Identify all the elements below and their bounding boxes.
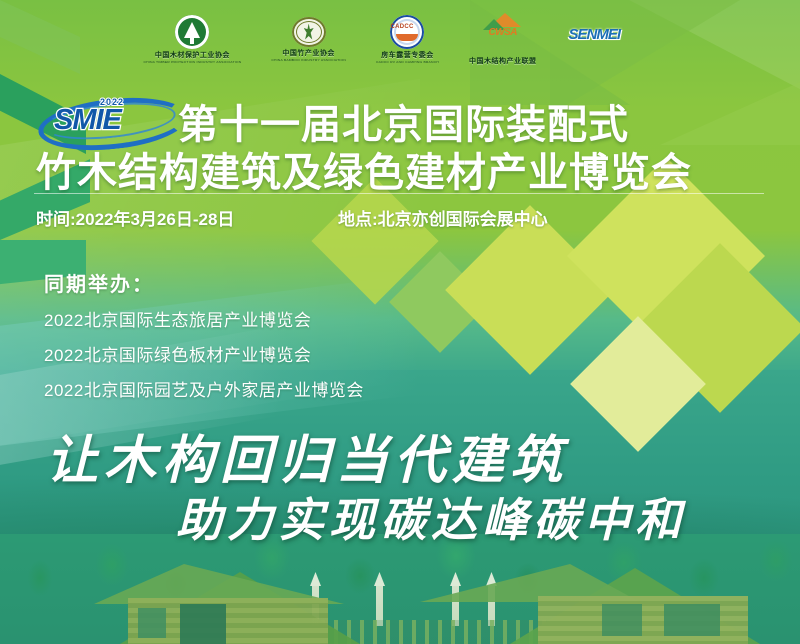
cabin-door <box>180 604 226 644</box>
sponsor-name-en: CHINA BAMBOO INDUSTRY ASSOCIATION <box>271 58 346 62</box>
sponsor-logo-1[interactable]: 中国竹产业协会 CHINA BAMBOO INDUSTRY ASSOCIATIO… <box>271 17 346 62</box>
concurrent-event-item: 2022北京国际生态旅居产业博览会 <box>44 306 311 331</box>
sponsor-name-cn: 中国木结构产业联盟 <box>469 56 537 66</box>
wooden-cabins-forest-photo <box>0 534 800 644</box>
sponsor-abbr: CADCC <box>390 24 413 30</box>
cabin-window <box>138 608 166 638</box>
slogan-line-1: 让木构回归当代建筑 <box>46 418 568 493</box>
concurrent-event-item: 2022北京国际绿色板材产业博览会 <box>44 341 311 366</box>
bamboo-seal-icon <box>292 17 326 47</box>
slogan-line-2: 助力实现碳达峰碳中和 <box>176 484 686 550</box>
sponsor-logo-4[interactable]: SENMEI <box>566 26 656 52</box>
cadcc-seal-icon: CADCC <box>390 15 424 49</box>
sponsor-abbr: SENMEI <box>568 26 620 43</box>
house-cwsa-icon: CWSA <box>481 13 525 43</box>
concurrent-events-heading: 同期举办： <box>44 268 154 297</box>
wooden-cabin-right <box>460 548 790 644</box>
senmei-leaf-icon: SENMEI <box>566 26 656 52</box>
smie-brand-logo: 2022 SMIE <box>38 95 178 143</box>
wooden-cabin-left <box>70 552 400 644</box>
sponsor-name-cn: 中国竹产业协会 <box>282 48 335 58</box>
event-venue: 地点:北京亦创国际会展中心 <box>338 205 548 230</box>
page-title-line-2: 竹木结构建筑及绿色建材产业博览会 <box>36 140 692 198</box>
sponsor-name-en: CHINA TIMBER PROTECTION INDUSTRY ASSOCIA… <box>144 60 242 64</box>
concurrent-event-item: 2022北京国际园艺及户外家居产业博览会 <box>44 376 364 401</box>
sponsor-name-en: CADCC RV AND CAMPING BRANCH <box>376 60 439 64</box>
title-divider <box>34 193 764 194</box>
pine-tree-seal-icon <box>175 15 209 49</box>
sponsor-logo-3[interactable]: CWSA 中国木结构产业联盟 <box>469 13 537 66</box>
smie-acronym: SMIE <box>54 104 121 137</box>
sponsor-name-cn: 房车露营专委会 <box>381 50 434 60</box>
sponsor-name-cn: 中国木材保护工业协会 <box>155 50 230 60</box>
cabin-window <box>602 604 642 636</box>
event-date: 时间:2022年3月26日-28日 <box>36 205 234 230</box>
cabin-window <box>664 604 720 636</box>
sponsor-logo-2[interactable]: CADCC 房车露营专委会 CADCC RV AND CAMPING BRANC… <box>376 15 439 64</box>
sponsor-logo-row: 中国木材保护工业协会 CHINA TIMBER PROTECTION INDUS… <box>0 6 800 72</box>
exhibition-poster: 中国木材保护工业协会 CHINA TIMBER PROTECTION INDUS… <box>0 0 800 644</box>
sponsor-logo-0[interactable]: 中国木材保护工业协会 CHINA TIMBER PROTECTION INDUS… <box>144 15 242 64</box>
sponsor-abbr: CWSA <box>481 27 525 38</box>
